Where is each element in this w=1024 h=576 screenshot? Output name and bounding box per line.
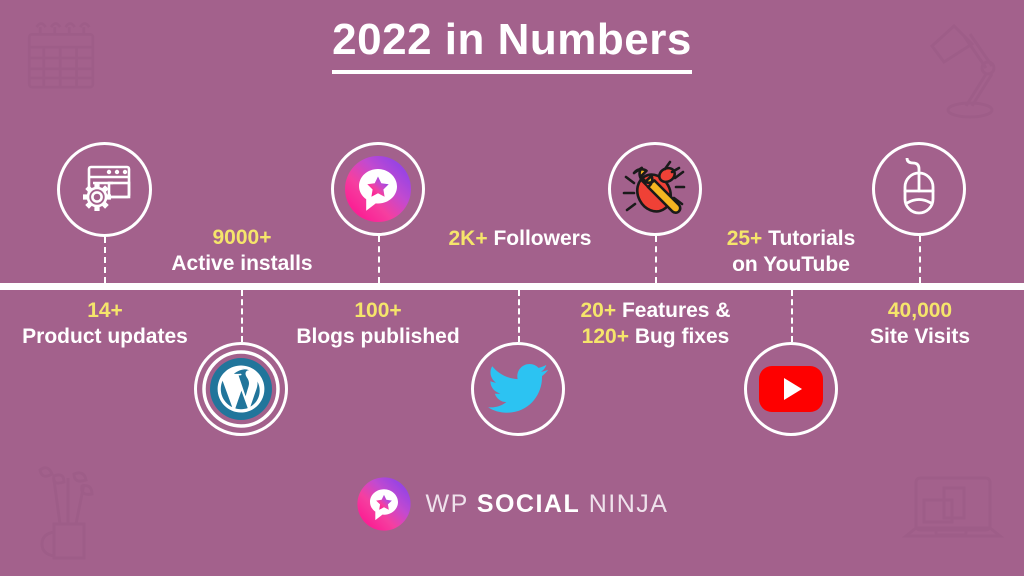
- wordpress-icon: [194, 342, 288, 436]
- stat-text: Features &: [622, 299, 731, 322]
- brand-word-ninja: NINJA: [589, 490, 669, 518]
- stat-text: Followers: [493, 227, 591, 250]
- brand-word-wp: WP: [426, 490, 469, 518]
- stat-text: Active installs: [171, 252, 312, 275]
- stat-number: 100+: [354, 299, 401, 322]
- computer-mouse-icon: [872, 142, 966, 236]
- brand-word-social: SOCIAL: [477, 490, 580, 518]
- timeline-axis: [0, 283, 1024, 290]
- wp-social-ninja-icon: [331, 142, 425, 236]
- connector-line: [378, 236, 380, 283]
- connector-line: [919, 236, 921, 283]
- twitter-icon: [471, 342, 565, 436]
- stat-label-active-installs: 9000+ Active installs: [142, 225, 342, 276]
- wp-social-ninja-icon: [356, 476, 412, 532]
- connector-line: [518, 290, 520, 342]
- connector-line: [104, 237, 106, 283]
- page-title: 2022 in Numbers: [332, 16, 692, 74]
- page-title-wrap: 2022 in Numbers: [0, 16, 1024, 74]
- stat-number: 25+: [727, 227, 763, 250]
- stat-text: Site Visits: [870, 325, 970, 348]
- connector-line: [241, 290, 243, 342]
- stat-text: Tutorials: [768, 227, 855, 250]
- youtube-icon: [744, 342, 838, 436]
- stat-number: 14+: [87, 299, 123, 322]
- connector-line: [791, 290, 793, 342]
- connector-line: [655, 236, 657, 283]
- stat-number: 9000+: [213, 226, 272, 249]
- stat-text: Product updates: [22, 325, 188, 348]
- stat-label-blogs-published: 100+ Blogs published: [283, 298, 473, 349]
- infographic-canvas: 2022 in Numbers: [0, 0, 1024, 576]
- stat-label-features-bugfixes: 20+ Features & 120+ Bug fixes: [553, 298, 758, 349]
- brand-name: WP SOCIAL NINJA: [426, 490, 669, 519]
- stat-label-youtube-tutorials: 25+ Tutorials on YouTube: [691, 226, 891, 277]
- stat-label-site-visits: 40,000 Site Visits: [822, 298, 1018, 349]
- stat-number: 2K+: [449, 227, 488, 250]
- bug-wrench-icon: [608, 142, 702, 236]
- stat-text: Blogs published: [296, 325, 459, 348]
- stat-number-secondary: 120+: [582, 325, 629, 348]
- stat-number: 20+: [580, 299, 616, 322]
- stat-number: 40,000: [888, 299, 952, 322]
- stat-text-secondary: on YouTube: [732, 253, 850, 276]
- stat-label-twitter-followers: 2K+ Followers: [420, 226, 620, 252]
- stat-text-secondary: Bug fixes: [635, 325, 730, 348]
- brand-logo: WP SOCIAL NINJA: [0, 476, 1024, 532]
- browser-gear-icon: [57, 142, 152, 237]
- stat-label-product-updates: 14+ Product updates: [4, 298, 206, 349]
